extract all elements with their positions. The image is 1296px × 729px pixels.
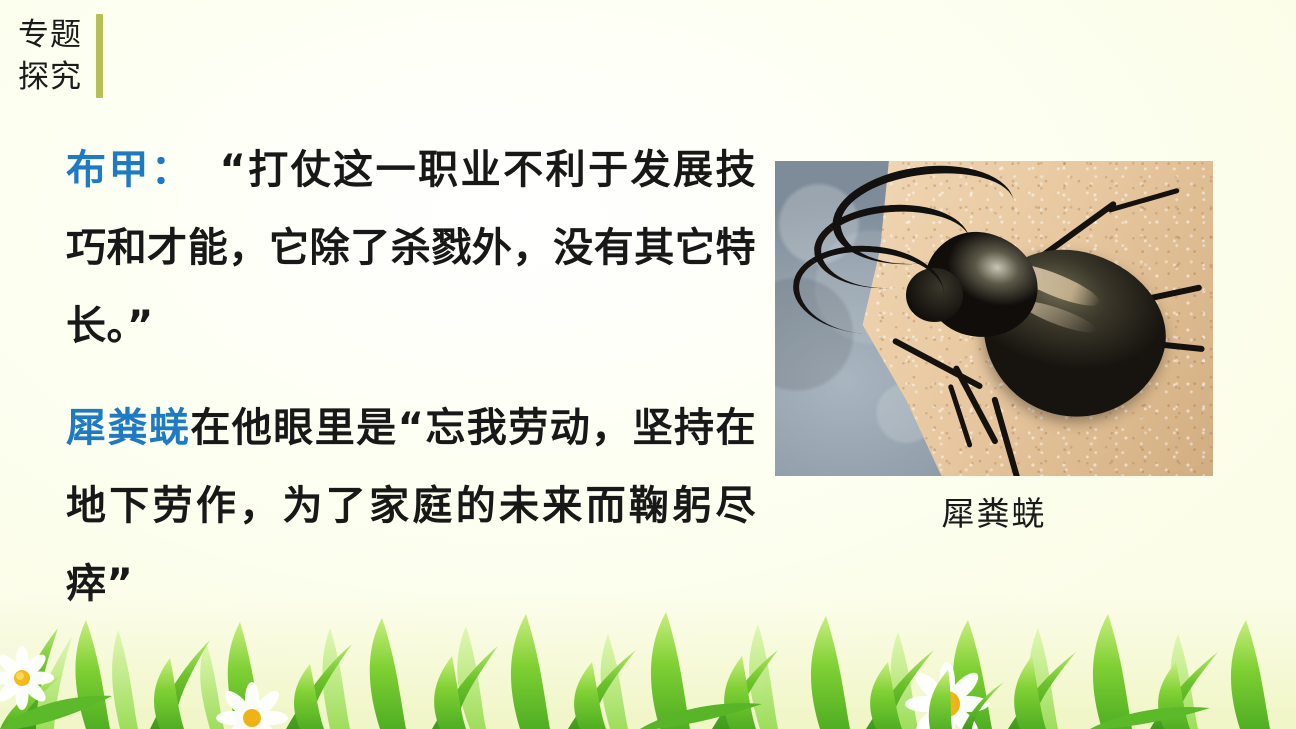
paragraph-two: 犀粪蜣在他眼里是“忘我劳动，坚持在地下劳作，为了家庭的未来而鞠躬尽瘁” [66, 389, 756, 623]
speaker-label: 布甲： [66, 147, 193, 193]
slide-canvas: 专题 探究 布甲：“打仗这一职业不利于发展技巧和才能，它除了杀戮外，没有其它特长… [0, 0, 1296, 729]
subject-label: 犀粪蜣 [66, 405, 190, 451]
paragraph-one: 布甲：“打仗这一职业不利于发展技巧和才能，它除了杀戮外，没有其它特长。” [66, 131, 756, 365]
header-accent-bar [96, 14, 103, 98]
section-header-line1: 专题 [18, 14, 82, 56]
beetle-leg-front-right-tarsus [1107, 188, 1180, 213]
beetle-photo-frame [775, 161, 1213, 476]
beetle-illustration [775, 161, 1213, 476]
section-header-line2: 探究 [18, 56, 82, 98]
section-header: 专题 探究 [18, 14, 103, 98]
body-text-column: 布甲：“打仗这一职业不利于发展技巧和才能，它除了杀戮外，没有其它特长。” 犀粪蜣… [66, 131, 756, 623]
photo-caption: 犀粪蜣 [775, 487, 1213, 535]
beetle-photo [775, 161, 1213, 476]
beetle-leg-front-left [892, 338, 984, 391]
section-header-label: 专题 探究 [18, 14, 96, 98]
